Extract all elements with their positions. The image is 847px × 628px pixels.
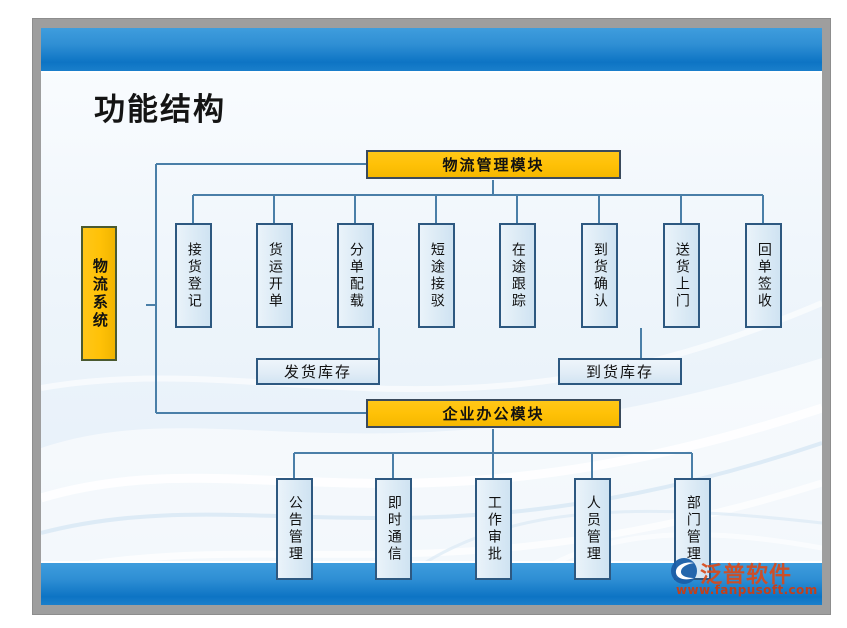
diagram-node-daohuokucun[interactable]: 到货库存: [558, 358, 682, 385]
swoosh-logo-icon: [668, 556, 702, 586]
diagram-node-root-label: 物流系统: [91, 258, 107, 330]
functional-structure-diagram: 物流系统 物流管理模块 接货登记 货运开单 分单配载 短途接驳 在途跟踪: [41, 28, 822, 605]
diagram-node-module-office[interactable]: 企业办公模块: [366, 399, 621, 428]
diagram-node-label: 即时通信: [386, 495, 401, 563]
diagram-node-songhuoshangmen[interactable]: 送货上门: [663, 223, 700, 328]
watermark-url: www.fanpusoft.com: [676, 583, 818, 597]
diagram-node-daohuoqueren[interactable]: 到货确认: [581, 223, 618, 328]
diagram-node-label: 回单签收: [756, 242, 771, 310]
diagram-node-label: 人员管理: [585, 495, 600, 563]
diagram-node-label: 公告管理: [287, 495, 302, 563]
diagram-node-label: 发货库存: [284, 361, 352, 382]
watermark-logo: 泛普软件 www.fanpusoft.com: [666, 555, 816, 603]
diagram-node-renyuanguanli[interactable]: 人员管理: [574, 478, 611, 580]
diagram-node-fendanpeizai[interactable]: 分单配载: [337, 223, 374, 328]
diagram-node-label: 部门管理: [685, 495, 700, 563]
diagram-node-label: 短途接驳: [429, 242, 444, 310]
diagram-node-jiehuodengji[interactable]: 接货登记: [175, 223, 212, 328]
diagram-node-jishitongxin[interactable]: 即时通信: [375, 478, 412, 580]
diagram-node-module-logistics[interactable]: 物流管理模块: [366, 150, 621, 179]
diagram-node-duantujieb[interactable]: 短途接驳: [418, 223, 455, 328]
diagram-node-root[interactable]: 物流系统: [81, 226, 117, 361]
slide-frame: 功能结构: [33, 19, 830, 614]
diagram-node-label: 到货库存: [586, 361, 654, 382]
diagram-node-label: 货运开单: [267, 242, 282, 310]
diagram-node-huidanqianshou[interactable]: 回单签收: [745, 223, 782, 328]
diagram-node-gonggaoguanli[interactable]: 公告管理: [276, 478, 313, 580]
diagram-node-fahuokucun[interactable]: 发货库存: [256, 358, 380, 385]
diagram-node-module-office-label: 企业办公模块: [442, 403, 544, 424]
diagram-node-module-logistics-label: 物流管理模块: [442, 154, 544, 175]
slide-canvas: 功能结构: [41, 28, 822, 605]
diagram-node-label: 接货登记: [186, 242, 201, 310]
diagram-node-gongzuoshenpi[interactable]: 工作审批: [475, 478, 512, 580]
diagram-node-label: 到货确认: [592, 242, 607, 310]
diagram-node-label: 送货上门: [674, 242, 689, 310]
diagram-node-huoyunkaidan[interactable]: 货运开单: [256, 223, 293, 328]
diagram-node-label: 分单配载: [348, 242, 363, 310]
diagram-node-zaitugenzong[interactable]: 在途跟踪: [499, 223, 536, 328]
diagram-node-label: 工作审批: [486, 495, 501, 563]
diagram-node-label: 在途跟踪: [510, 242, 525, 310]
